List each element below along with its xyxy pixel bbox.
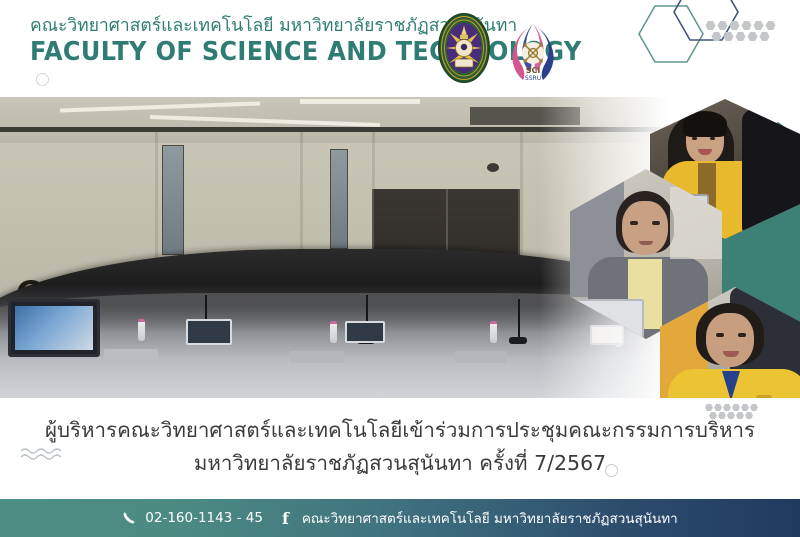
ssru-university-seal-icon: [438, 13, 490, 83]
caption-line-2: มหาวิทยาลัยราชภัฏสวนสุนันทา ครั้งที่ 7/2…: [0, 448, 800, 479]
poster-canvas: คณะวิทยาศาสตร์และเทคโนโลยี มหาวิทยาลัยรา…: [0, 0, 800, 537]
svg-text:SSRU: SSRU: [525, 75, 541, 82]
caption-block: ผู้บริหารคณะวิทยาศาสตร์และเทคโนโลยีเข้าร…: [0, 398, 800, 499]
honeycomb-dots-header-icon: [703, 19, 783, 47]
wave-decor-icon: [20, 446, 62, 464]
caption-line-1: ผู้บริหารคณะวิทยาศาสตร์และเทคโนโลยีเข้าร…: [0, 415, 800, 446]
svg-text:SCI: SCI: [526, 66, 541, 75]
header-circle-decor: [36, 73, 49, 86]
facebook-icon[interactable]: f: [282, 509, 289, 528]
phone-icon: [122, 511, 136, 525]
poster-header: คณะวิทยาศาสตร์และเทคโนโลยี มหาวิทยาลัยรา…: [0, 0, 800, 97]
photo-band: [0, 97, 800, 398]
poster-footer: 02-160-1143 - 45 f คณะวิทยาศาสตร์และเทคโ…: [0, 499, 800, 537]
footer-facebook-page[interactable]: คณะวิทยาศาสตร์และเทคโนโลยี มหาวิทยาลัยรา…: [302, 507, 678, 529]
honeycomb-dots-caption-icon: [703, 403, 783, 423]
caption-circle-decor: [605, 464, 618, 477]
screen-monitor: [8, 299, 100, 357]
footer-phone-number[interactable]: 02-160-1143 - 45: [145, 510, 263, 526]
sci-ssru-logo-icon: SCI SSRU: [508, 22, 558, 86]
header-english-title: FACULTY OF SCIENCE AND TECHNOLOGY: [30, 38, 582, 67]
